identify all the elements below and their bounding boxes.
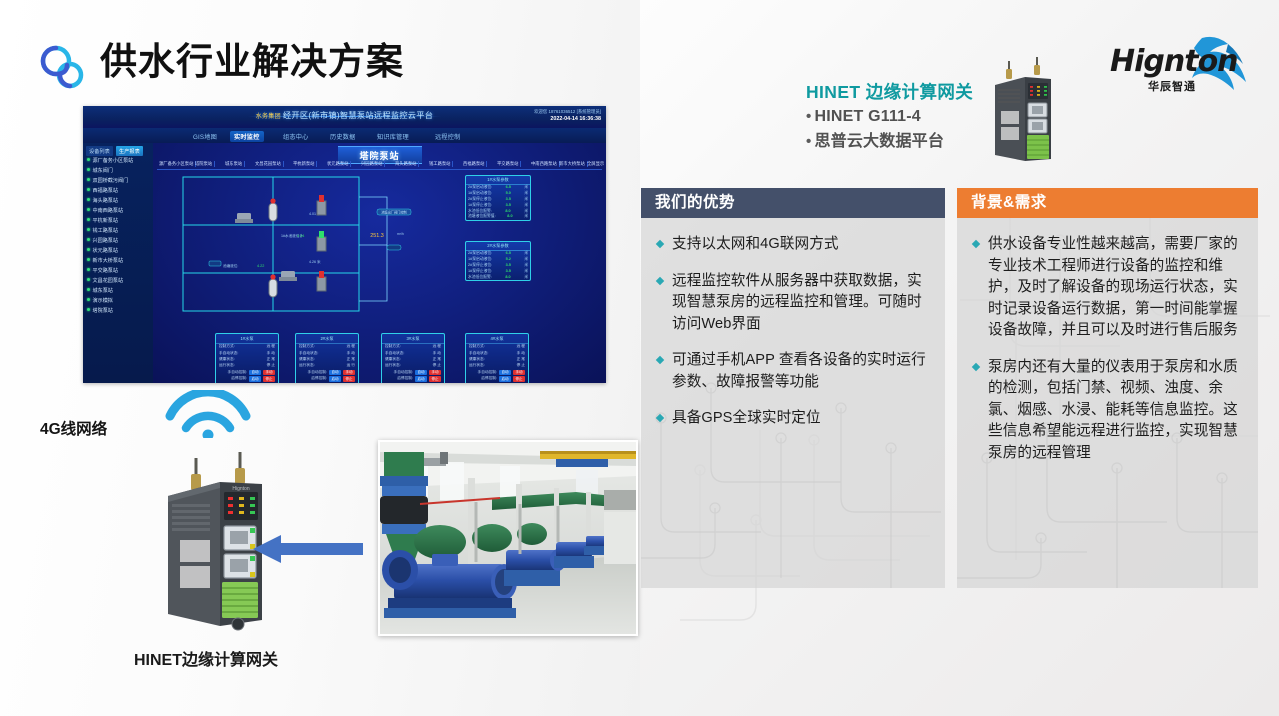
row-label: 手自动状态: <box>299 351 318 356</box>
row-value: 3.5 <box>506 263 511 268</box>
row-label: 健康状态: <box>385 357 401 362</box>
panel-0-title: 1#水泵参数 <box>466 176 530 185</box>
scada-sidebar-item-1[interactable]: 城东阀门 <box>87 167 113 174</box>
scada-sidebar: 设备列表 生产报表 源厂备务小区泵站 城东阀门 双园桥截污阀门 西福路泵站 海头… <box>83 143 154 383</box>
pump-3-ctrl-start: 启停控制: 启动 停止 <box>466 376 528 383</box>
row-value: 5.0 <box>506 191 511 196</box>
scada-data-panel-0: 1#水泵参数 2#泵启动液位:6.5米 1#泵启动液位:5.0米 2#泵停止液位… <box>465 175 531 221</box>
row-value: 5.2 <box>506 257 511 262</box>
ctrl-label: 手自动控制: <box>394 370 413 376</box>
diamond-bullet-icon <box>656 356 664 364</box>
row-unit: 米 <box>524 209 528 214</box>
scada-sidebar-tab-devicelist[interactable]: 设备列表 <box>86 146 113 156</box>
start-button[interactable]: 启动 <box>415 376 427 382</box>
pump-card-0: 1#水泵 控制方式:远 程 手自动状态:手 动 健康状态:正 常 运行状态:停 … <box>215 333 279 383</box>
station-tab-4[interactable]: 平杭新泵站 <box>291 161 317 167</box>
wifi-signal-icon <box>162 390 254 438</box>
scada-tab-realtime[interactable]: 实时监控 <box>230 131 264 142</box>
scada-sidebar-tab-report[interactable]: 生产报表 <box>116 146 143 156</box>
station-tab-1[interactable]: 塔院泵站 <box>193 161 215 167</box>
bullet-dot-icon: • <box>806 108 811 125</box>
row-value: 手 动 <box>517 351 525 356</box>
station-tab-6[interactable]: 兴园路泵站 <box>359 161 385 167</box>
hignton-subtitle: 华辰智通 <box>1148 78 1196 94</box>
row-label: 控制方式: <box>385 344 401 349</box>
panel-0-row-5: 池塘液位报警值:8.0米 <box>466 214 530 220</box>
diamond-bullet-icon <box>656 414 664 422</box>
row-label: 运行状态: <box>219 363 235 368</box>
svg-text:池塘液位:: 池塘液位: <box>223 263 238 268</box>
row-label: 手自动状态: <box>385 351 404 356</box>
status-led-icon <box>87 178 90 181</box>
scada-tab-config[interactable]: 组态中心 <box>279 131 313 142</box>
stop-button[interactable]: 停止 <box>343 376 355 382</box>
station-tab-5[interactable]: 状元路泵站 <box>325 161 351 167</box>
row-label: 控制方式: <box>469 344 485 349</box>
scada-process-diagram: 1#水池液位计 池塘液位: 4.01 米 4.26 米 4.22 4.34 25… <box>181 175 431 325</box>
row-unit: 米 <box>524 251 528 256</box>
status-led-icon <box>87 198 90 201</box>
background-panel-title: 背景&需求 <box>957 188 1258 218</box>
row-label: 2#泵停止液位: <box>468 197 492 202</box>
page-header: 供水行业解决方案 <box>0 0 1279 105</box>
scada-sidebar-item-0[interactable]: 源厂备务小区泵站 <box>87 157 133 164</box>
row-unit: 米 <box>524 203 528 208</box>
diamond-bullet-icon <box>656 276 664 284</box>
row-label: 运行状态: <box>385 363 401 368</box>
row-unit: 米 <box>524 269 528 274</box>
status-led-icon <box>87 218 90 221</box>
hinet-gateway-device-image <box>985 55 1060 165</box>
scada-tab-gis[interactable]: GIS地图 <box>189 131 221 142</box>
scada-sidebar-item-13-label: 城东泵站 <box>93 288 113 294</box>
row-value: 停 止 <box>267 363 275 368</box>
row-unit: 米 <box>524 185 528 190</box>
row-label: 1#泵停止液位: <box>468 269 492 274</box>
status-led-icon <box>87 298 90 301</box>
scada-sidebar-item-3[interactable]: 西福路泵站 <box>87 187 118 194</box>
pump-0-ctrl-auto: 手自动控制: 自动 手动 <box>216 369 278 376</box>
scada-sidebar-item-13[interactable]: 城东泵站 <box>87 287 113 294</box>
row-label: 运行状态: <box>469 363 485 368</box>
pump-2-ctrl-auto: 手自动控制: 自动 手动 <box>382 369 444 376</box>
row-label: 运行状态: <box>299 363 315 368</box>
background-panel-body: 供水设备专业性越来越高，需要厂家的专业技术工程师进行设备的监控和维护，及时了解设… <box>957 218 1258 588</box>
svg-text:4.22: 4.22 <box>257 264 264 268</box>
row-value: 正 常 <box>347 357 355 362</box>
station-tab-3[interactable]: 文昌花园泵站 <box>253 161 284 167</box>
row-value: 远 程 <box>267 344 275 349</box>
scada-sidebar-item-4[interactable]: 海头路泵站 <box>87 197 118 204</box>
pump-1-ctrl-auto: 手自动控制: 自动 手动 <box>296 369 358 376</box>
manual-button[interactable]: 手动 <box>343 370 355 376</box>
row-label: 健康状态: <box>219 357 235 362</box>
row-value: 远 程 <box>347 344 355 349</box>
row-value: 3.5 <box>506 203 511 208</box>
ctrl-label: 手自动控制: <box>478 370 497 376</box>
scada-sidebar-item-11-label: 平交路泵站 <box>93 268 118 274</box>
advantage-bullet-3: 具备GPS全球实时定位 <box>655 408 931 430</box>
advantage-bullet-0: 支持以太网和4G联网方式 <box>655 234 931 256</box>
status-led-icon <box>87 288 90 291</box>
pump-1-ctrl-start: 启停控制: 启动 停止 <box>296 376 358 383</box>
data-flow-arrow-icon <box>253 533 363 565</box>
advantages-panel-body: 支持以太网和4G联网方式 远程监控软件从服务器中获取数据，实现智慧泵房的远程监控… <box>641 218 945 588</box>
row-unit: 米 <box>524 275 528 280</box>
status-led-icon <box>87 268 90 271</box>
pump-2-ctrl-start: 启停控制: 启动 停止 <box>382 376 444 383</box>
manual-button[interactable]: 手动 <box>263 370 275 376</box>
status-led-icon <box>87 168 90 171</box>
diamond-bullet-icon <box>972 362 980 370</box>
scada-nav-bar: GIS地图 实时监控 组态中心 历史数据 知识库管理 远程控制 <box>83 128 606 143</box>
start-button[interactable]: 启动 <box>249 376 261 382</box>
advantage-bullet-0-text: 支持以太网和4G联网方式 <box>672 234 839 256</box>
row-label: 控制方式: <box>219 344 235 349</box>
scada-sidebar-item-1-label: 城东阀门 <box>93 168 113 174</box>
scada-sidebar-item-6-label: 平杭新泵站 <box>93 218 118 224</box>
scada-sidebar-item-10-label: 新市大桥泵站 <box>93 258 124 264</box>
row-label: 健康状态: <box>469 357 485 362</box>
scada-account-info: 欢迎您 18761036512 [系统管理员] <box>534 108 601 115</box>
scada-sidebar-item-7-label: 钱工路泵站 <box>93 228 118 234</box>
station-tab-9[interactable]: 西福路泵站 <box>461 161 487 167</box>
stop-button[interactable]: 停止 <box>263 376 275 382</box>
status-led-icon <box>87 258 90 261</box>
status-led-icon <box>87 188 90 191</box>
row-label: 2#泵启动液位: <box>468 185 492 190</box>
svg-text:Hignton: Hignton <box>232 486 249 492</box>
requirement-bullet-1: 泵房内还有大量的仪表用于泵房和水质的检测，包括门禁、视频、浊度、余氯、烟感、水浸… <box>971 357 1244 465</box>
row-value: 3.5 <box>506 197 511 202</box>
row-value: 运 行 <box>347 363 355 368</box>
row-unit: 米 <box>524 263 528 268</box>
ctrl-label: 启停控制: <box>397 376 413 382</box>
scada-sidebar-item-4-label: 海头路泵站 <box>93 198 118 204</box>
scada-screenshot: 水务集团经开区(新市镇)智慧泵站远程监控云平台 欢迎您 18761036512 … <box>83 106 606 383</box>
requirement-bullet-0: 供水设备专业性越来越高，需要厂家的专业技术工程师进行设备的监控和维护，及时了解设… <box>971 234 1244 342</box>
scada-platform-title-text: 经开区(新市镇)智慧泵站远程监控云平台 <box>283 111 433 120</box>
panel-1-row-4: 水池低位报警:8.0米 <box>466 274 530 280</box>
row-label: 池塘液位报警值: <box>468 214 496 219</box>
scada-sidebar-item-15[interactable]: 塔院泵站 <box>87 307 113 314</box>
scada-account-value: 18761036512 [系统管理员] <box>549 109 601 114</box>
scada-sidebar-item-6[interactable]: 平杭新泵站 <box>87 217 118 224</box>
scada-sidebar-item-15-label: 塔院泵站 <box>93 308 113 314</box>
advantage-bullet-2: 可通过手机APP 查看各设备的实时运行参数、故障报警等功能 <box>655 350 931 393</box>
ctrl-label: 启停控制: <box>481 376 497 382</box>
start-button[interactable]: 启动 <box>329 376 341 382</box>
stop-button[interactable]: 停止 <box>513 376 525 382</box>
row-label: 1#泵启动液位: <box>468 191 492 196</box>
water-drop-circles-logo-icon <box>36 41 90 95</box>
scada-data-panel-1: 2#水泵参数 2#泵启动液位:6.5米 1#泵启动液位:5.2米 2#泵停止液位… <box>465 241 531 281</box>
row-value: 手 动 <box>433 351 441 356</box>
row-label: 1#泵停止液位: <box>468 203 492 208</box>
svg-text:251.3: 251.3 <box>370 233 384 239</box>
row-label: 1#泵启动液位: <box>468 257 492 262</box>
row-value: 8.0 <box>507 214 512 219</box>
row-label: 2#泵停止液位: <box>468 263 492 268</box>
pump-card-2-title: 3#水泵 <box>382 334 444 344</box>
background-requirements-panel: 背景&需求 供水设备专业性越来越高，需要厂家的专业技术工程师进行设备的监控和维护… <box>957 188 1258 588</box>
scada-sidebar-item-9-label: 状元路泵站 <box>93 248 118 254</box>
diamond-bullet-icon <box>656 240 664 248</box>
scada-main-area: 塔院泵站 源厂备务小区泵站 塔院泵站 城东泵站 文昌花园泵站 平杭新泵站 状元路… <box>153 143 606 383</box>
row-unit: 米 <box>524 214 528 219</box>
advantage-bullet-2-text: 可通过手机APP 查看各设备的实时运行参数、故障报警等功能 <box>672 350 931 393</box>
station-tab-8[interactable]: 钱工路泵站 <box>427 161 453 167</box>
scada-sidebar-item-0-label: 源厂备务小区泵站 <box>93 158 134 164</box>
row-value: 手 动 <box>347 351 355 356</box>
requirement-bullet-1-text: 泵房内还有大量的仪表用于泵房和水质的检测，包括门禁、视频、浊度、余氯、烟感、水浸… <box>988 357 1244 465</box>
advantages-panel: 我们的优势 支持以太网和4G联网方式 远程监控软件从服务器中获取数据，实现 <box>641 188 945 588</box>
row-unit: 米 <box>524 191 528 196</box>
manual-button[interactable]: 手动 <box>429 370 441 376</box>
scada-sidebar-item-2[interactable]: 双园桥截污阀门 <box>87 177 128 184</box>
svg-text:m³/h: m³/h <box>397 232 404 236</box>
label-4g-network: 4G线网络 <box>40 417 107 439</box>
svg-text:4.26 米: 4.26 米 <box>309 259 321 264</box>
row-unit: 米 <box>524 257 528 262</box>
diamond-bullet-icon <box>972 240 980 248</box>
row-unit: 米 <box>524 197 528 202</box>
status-led-icon <box>87 238 90 241</box>
bullet-dot-icon: • <box>806 133 811 150</box>
pump-0-ctrl-start: 启停控制: 启动 停止 <box>216 376 278 383</box>
station-tab-fullscreen[interactable]: 全屏显示 <box>585 161 606 167</box>
ctrl-label: 启停控制: <box>231 376 247 382</box>
pump-3-ctrl-auto: 手自动控制: 自动 手动 <box>466 369 528 376</box>
row-value: 6.5 <box>506 185 511 190</box>
scada-tab-history[interactable]: 历史数据 <box>326 131 360 142</box>
ctrl-label: 手自动控制: <box>228 370 247 376</box>
scada-platform-logo-icon: 水务集团 <box>256 114 281 120</box>
panel-1-title: 2#水泵参数 <box>466 242 530 251</box>
pump-card-0-title: 1#水泵 <box>216 334 278 344</box>
scada-sidebar-item-2-label: 双园桥截污阀门 <box>93 178 129 184</box>
scada-sidebar-item-9[interactable]: 状元路泵站 <box>87 247 118 254</box>
station-tab-12[interactable]: 新市大桥泵站 <box>557 161 588 167</box>
row-value: 停 止 <box>433 363 441 368</box>
scada-tab-remote[interactable]: 远程控制 <box>431 131 465 142</box>
start-button[interactable]: 启动 <box>499 376 511 382</box>
stop-button[interactable]: 停止 <box>429 376 441 382</box>
station-tab-2[interactable]: 城东泵站 <box>223 161 245 167</box>
row-label: 控制方式: <box>299 344 315 349</box>
station-tab-10[interactable]: 平交路泵站 <box>495 161 521 167</box>
row-label: 水池低位报警: <box>468 209 492 214</box>
scada-sidebar-item-14[interactable]: 演示模拟 <box>87 297 113 304</box>
manual-button[interactable]: 手动 <box>513 370 525 376</box>
pump-card-2: 3#水泵 控制方式:远 程 手自动状态:手 动 健康状态:正 常 运行状态:停 … <box>381 333 445 383</box>
advantage-bullet-1: 远程监控软件从服务器中获取数据，实现智慧泵房的远程监控和管理。可随时访问Web界… <box>655 271 931 336</box>
row-value: 6.5 <box>506 251 511 256</box>
status-led-icon <box>87 158 90 161</box>
scada-topbar: 水务集团经开区(新市镇)智慧泵站远程监控云平台 欢迎您 18761036512 … <box>83 106 606 128</box>
scada-sidebar-item-5[interactable]: 中南西路泵站 <box>87 207 123 214</box>
scada-sidebar-item-12-label: 文昌花园泵站 <box>93 278 124 284</box>
scada-sidebar-item-5-label: 中南西路泵站 <box>93 208 124 214</box>
scada-sidebar-item-11[interactable]: 平交路泵站 <box>87 267 118 274</box>
scada-platform-title: 水务集团经开区(新市镇)智慧泵站远程监控云平台 <box>256 109 434 121</box>
status-led-icon <box>87 278 90 281</box>
status-led-icon <box>87 228 90 231</box>
row-value: 8.0 <box>505 275 510 280</box>
row-label: 2#泵启动液位: <box>468 251 492 256</box>
station-tab-0[interactable]: 源厂备务小区泵站 <box>157 161 196 167</box>
auto-button[interactable]: 自动 <box>499 370 511 376</box>
pump-card-1-title: 2#水泵 <box>296 334 358 344</box>
svg-text:4.34: 4.34 <box>297 234 304 238</box>
status-led-icon <box>87 248 90 251</box>
advantage-bullet-1-text: 远程监控软件从服务器中获取数据，实现智慧泵房的远程监控和管理。可随时访问Web界… <box>672 271 931 336</box>
advantage-bullet-3-text: 具备GPS全球实时定位 <box>672 408 821 430</box>
pump-card-3-title: 4#水泵 <box>466 334 528 344</box>
row-value: 远 程 <box>517 344 525 349</box>
pump-card-3: 4#水泵 控制方式:远 程 手自动状态:手 动 健康状态:正 常 运行状态:停 … <box>465 333 529 383</box>
row-value: 8.0 <box>505 209 510 214</box>
status-led-icon <box>87 208 90 211</box>
row-label: 水池低位报警: <box>468 275 492 280</box>
label-hinet-gateway: HINET边缘计算网关 <box>134 646 278 670</box>
row-value: 远 程 <box>433 344 441 349</box>
svg-text:池塘出厂阀门控制: 池塘出厂阀门控制 <box>381 210 407 215</box>
row-value: 正 常 <box>267 357 275 362</box>
row-value: 停 止 <box>517 363 525 368</box>
status-led-icon <box>87 308 90 311</box>
row-value: 手 动 <box>267 351 275 356</box>
scada-sidebar-item-8-label: 兴园路泵站 <box>93 238 118 244</box>
scada-station-tabs: 源厂备务小区泵站 塔院泵站 城东泵站 文昌花园泵站 平杭新泵站 状元路泵站 兴园… <box>157 161 602 170</box>
scada-sidebar-item-3-label: 西福路泵站 <box>93 188 118 194</box>
scada-sidebar-item-7[interactable]: 钱工路泵站 <box>87 227 118 234</box>
scada-sidebar-item-12[interactable]: 文昌花园泵站 <box>87 277 123 284</box>
ctrl-label: 手自动控制: <box>308 370 327 376</box>
requirement-bullet-0-text: 供水设备专业性越来越高，需要厂家的专业技术工程师进行设备的监控和维护，及时了解设… <box>988 234 1244 342</box>
row-value: 3.5 <box>506 269 511 274</box>
scada-account-label: 欢迎您 <box>534 109 547 114</box>
page-title: 供水行业解决方案 <box>100 38 404 86</box>
station-tab-11[interactable]: 中南西路泵站 <box>529 161 560 167</box>
station-tab-7[interactable]: 海头路泵站 <box>393 161 419 167</box>
hinet-item-1-label: 思普云大数据平台 <box>814 133 944 150</box>
row-label: 手自动状态: <box>469 351 488 356</box>
advantages-panel-title: 我们的优势 <box>641 188 945 218</box>
scada-sidebar-item-10[interactable]: 新市大桥泵站 <box>87 257 123 264</box>
hignton-wordmark: Hignton <box>1110 45 1238 79</box>
row-value: 正 常 <box>433 357 441 362</box>
row-label: 手自动状态: <box>219 351 238 356</box>
auto-button[interactable]: 自动 <box>415 370 427 376</box>
row-value: 正 常 <box>517 357 525 362</box>
pump-room-photo <box>378 440 638 636</box>
scada-sidebar-item-8[interactable]: 兴园路泵站 <box>87 237 118 244</box>
auto-button[interactable]: 自动 <box>329 370 341 376</box>
pump-card-1: 2#水泵 控制方式:远 程 手自动状态:手 动 健康状态:正 常 运行状态:运 … <box>295 333 359 383</box>
row-label: 健康状态: <box>299 357 315 362</box>
scada-timestamp: 2022-04-14 16:36:38 <box>550 116 601 122</box>
scada-tab-knowledge[interactable]: 知识库管理 <box>373 131 413 142</box>
scada-sidebar-item-14-label: 演示模拟 <box>93 298 113 304</box>
hinet-item-0-label: HINET G111-4 <box>814 108 920 125</box>
auto-button[interactable]: 自动 <box>249 370 261 376</box>
ctrl-label: 启停控制: <box>311 376 327 382</box>
